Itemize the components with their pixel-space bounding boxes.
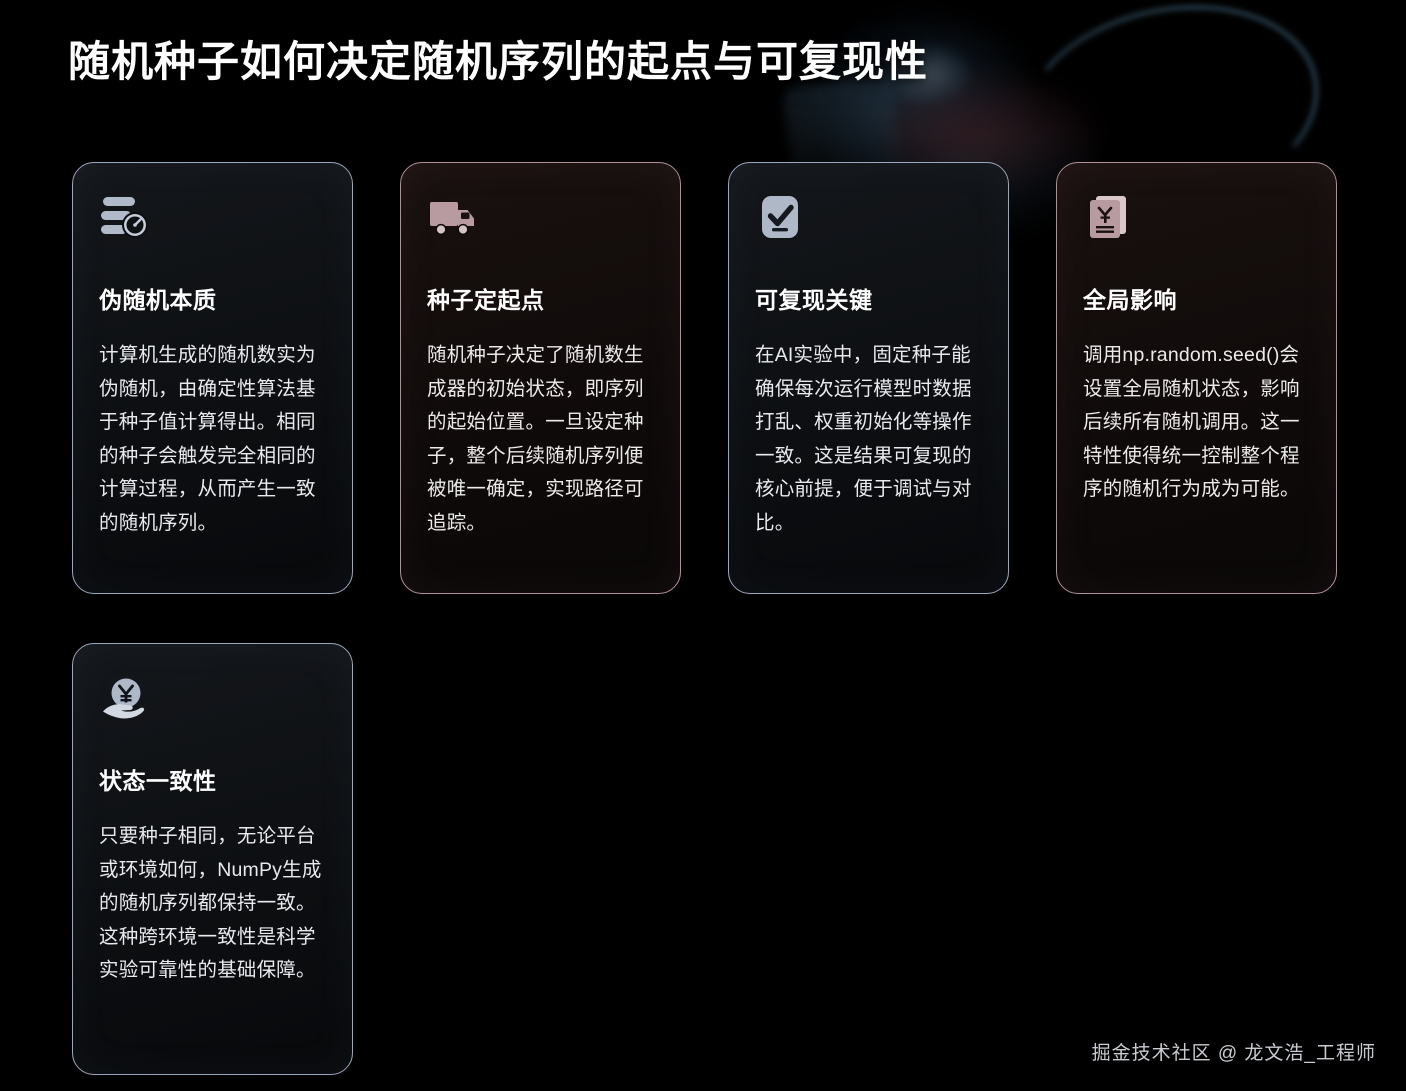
yen-ledger-icon [1083,191,1135,243]
info-card-reproducibility-key[interactable]: 可复现关键 在AI实验中，固定种子能确保每次运行模型时数据打乱、权重初始化等操作… [728,162,1009,594]
info-card-seed-start-point[interactable]: 种子定起点 随机种子决定了随机数生成器的初始状态，即序列的起始位置。一旦设定种子… [400,162,681,594]
card-grid: 伪随机本质 计算机生成的随机数实为伪随机，由确定性算法基于种子值计算得出。相同的… [72,162,1340,1075]
info-card-state-consistency[interactable]: 状态一致性 只要种子相同，无论平台或环境如何，NumPy生成的随机序列都保持一致… [72,643,353,1075]
card-title: 种子定起点 [427,281,654,315]
card-title: 伪随机本质 [99,281,326,315]
card-body-text: 只要种子相同，无论平台或环境如何，NumPy生成的随机序列都保持一致。这种跨环境… [99,820,326,988]
footer-credit: 掘金技术社区 @ 龙文浩_工程师 [1092,1038,1376,1065]
card-title: 状态一致性 [99,762,326,796]
page-title: 随机种子如何决定随机序列的起点与可复现性 [68,28,928,89]
card-title: 全局影响 [1083,281,1310,315]
card-body-text: 计算机生成的随机数实为伪随机，由确定性算法基于种子值计算得出。相同的种子会触发完… [99,339,326,540]
card-body-text: 随机种子决定了随机数生成器的初始状态，即序列的起始位置。一旦设定种子，整个后续随… [427,339,654,540]
info-card-global-impact[interactable]: 全局影响 调用np.random.seed()会设置全局随机状态，影响后续所有随… [1056,162,1337,594]
truck-icon [427,191,479,243]
card-body-text: 调用np.random.seed()会设置全局随机状态，影响后续所有随机调用。这… [1083,339,1310,507]
card-body-text: 在AI实验中，固定种子能确保每次运行模型时数据打乱、权重初始化等操作一致。这是结… [755,339,982,540]
info-card-pseudo-random[interactable]: 伪随机本质 计算机生成的随机数实为伪随机，由确定性算法基于种子值计算得出。相同的… [72,162,353,594]
hand-holding-yen-coin-icon [99,672,151,724]
gauge-bars-icon [99,191,151,243]
checkbox-check-icon [755,191,807,243]
card-title: 可复现关键 [755,281,982,315]
